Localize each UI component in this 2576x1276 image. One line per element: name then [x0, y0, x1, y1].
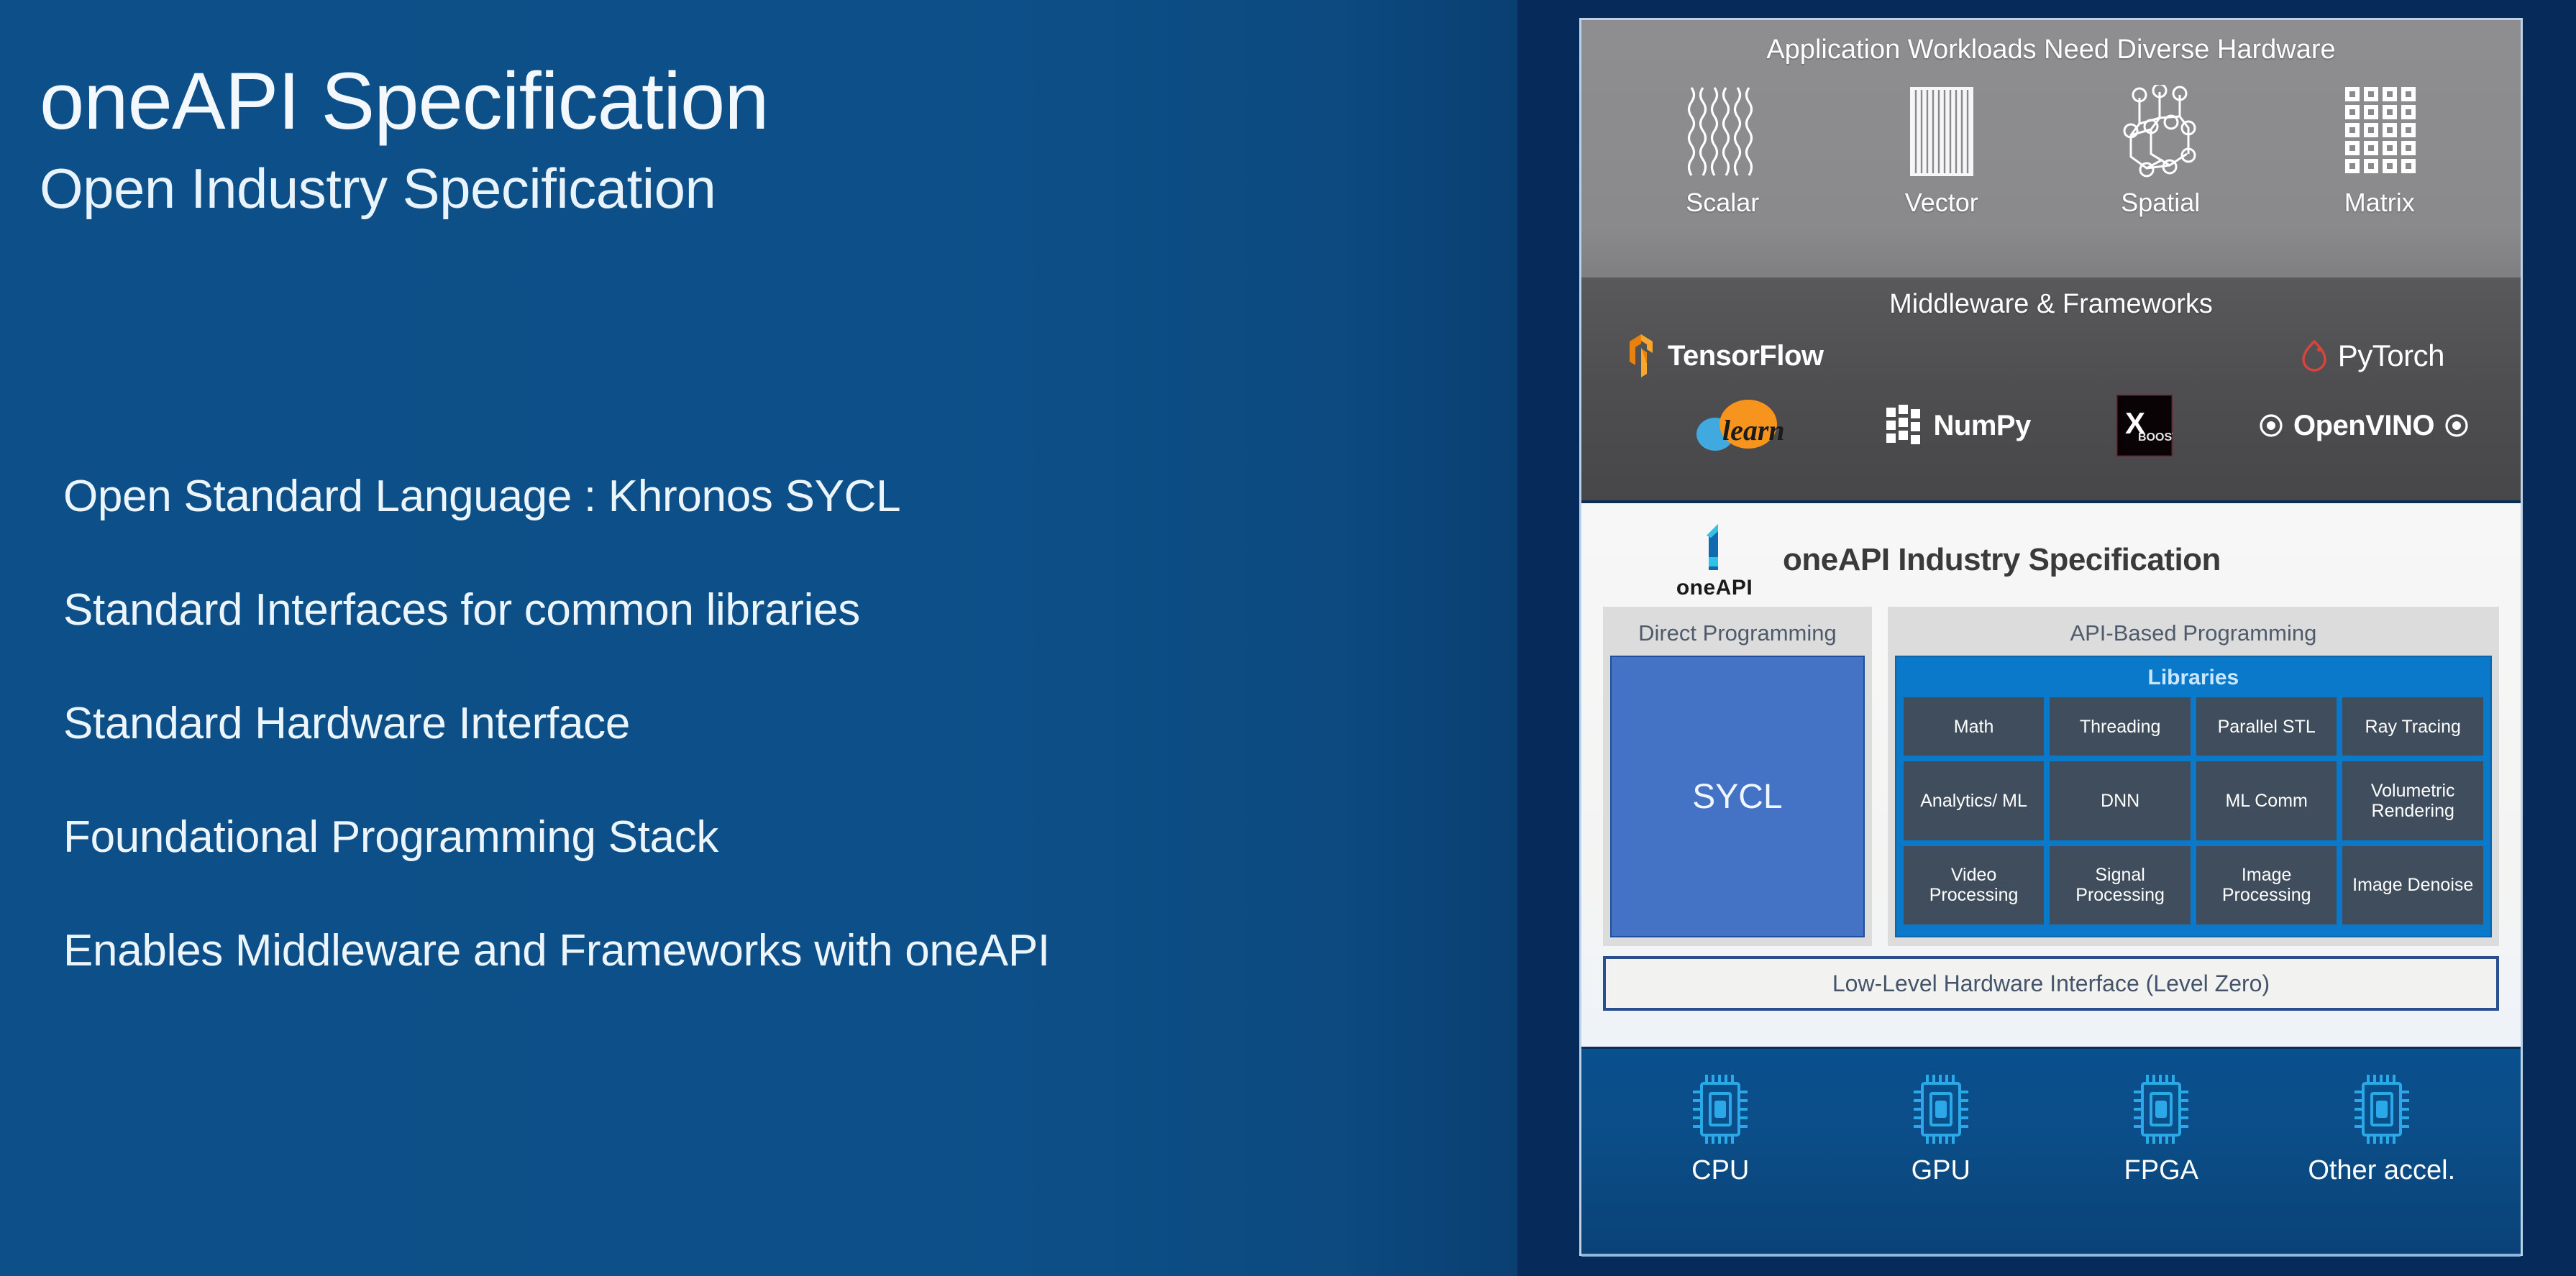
api-programming-column: API-Based Programming Libraries Math Thr… — [1888, 607, 2499, 946]
workloads-title: Application Workloads Need Diverse Hardw… — [1581, 35, 2521, 65]
hardware-label: Other accel. — [2308, 1155, 2455, 1186]
oneapi-logo: oneAPI — [1668, 520, 1761, 600]
chip-icon — [2127, 1069, 2196, 1149]
matrix-grid-icon — [2342, 84, 2417, 179]
scikit-learn-logo-icon: learn — [1689, 395, 1797, 456]
tensorflow-logo-icon — [1625, 333, 1658, 379]
xgboost-logo: X BOOST — [2116, 395, 2173, 456]
api-programming-header: API-Based Programming — [1895, 614, 2492, 656]
list-item: Open Standard Language : Khronos SYCL — [63, 474, 1466, 519]
spec-header: oneAPI oneAPI Industry Specification — [1603, 513, 2499, 607]
xgboost-logo-icon: X BOOST — [2116, 395, 2173, 456]
chip-icon — [1906, 1069, 1976, 1149]
workload-item-vector: Vector — [1863, 84, 2021, 218]
workloads-row: Scalar — [1581, 84, 2521, 218]
library-cell[interactable]: Analytics/ ML — [1904, 761, 2045, 840]
vector-bars-icon — [1906, 84, 1978, 179]
openvino-label: OpenVINO — [2293, 410, 2434, 442]
hardware-section: CPU — [1581, 1047, 2521, 1257]
pytorch-label: PyTorch — [2338, 339, 2444, 373]
list-item: Enables Middleware and Frameworks with o… — [63, 929, 1466, 973]
library-cell[interactable]: Video Processing — [1904, 846, 2045, 924]
hardware-item-other-accel: Other accel. — [2299, 1069, 2465, 1186]
slide-root: oneAPI Specification Open Industry Speci… — [0, 0, 2576, 1276]
tensorflow-label: TensorFlow — [1668, 340, 1823, 372]
workload-item-scalar: Scalar — [1643, 84, 1801, 218]
oneapi-digit-icon — [1689, 520, 1740, 576]
workloads-section: Application Workloads Need Diverse Hardw… — [1581, 20, 2521, 277]
hardware-row: CPU — [1581, 1069, 2521, 1186]
workload-item-spatial: Spatial — [2081, 84, 2239, 218]
numpy-logo-icon — [1883, 405, 1924, 446]
library-cell[interactable]: DNN — [2050, 761, 2191, 840]
library-cell[interactable]: Math — [1904, 697, 2045, 756]
workload-label: Vector — [1905, 188, 1978, 218]
libraries-title: Libraries — [1904, 663, 2483, 697]
page-subtitle: Open Industry Specification — [40, 160, 1262, 216]
pytorch-logo: PyTorch — [2301, 339, 2444, 373]
hardware-item-gpu: GPU — [1858, 1069, 2024, 1186]
title-block: oneAPI Specification Open Industry Speci… — [40, 61, 1262, 216]
numpy-label: NumPy — [1934, 410, 2031, 442]
openvino-logo: OpenVINO — [2259, 410, 2469, 442]
libraries-grid: Math Threading Parallel STL Ray Tracing … — [1904, 697, 2483, 924]
library-cell[interactable]: Ray Tracing — [2342, 697, 2483, 756]
direct-programming-header: Direct Programming — [1610, 614, 1865, 656]
workload-label: Scalar — [1686, 188, 1759, 218]
chip-icon — [2347, 1069, 2416, 1149]
middleware-row-1: TensorFlow PyTorch — [1581, 333, 2521, 379]
hardware-label: FPGA — [2124, 1155, 2198, 1186]
left-content-panel: oneAPI Specification Open Industry Speci… — [0, 0, 1517, 1276]
tensorflow-logo: TensorFlow — [1625, 333, 1823, 379]
hardware-label: CPU — [1691, 1155, 1749, 1186]
library-cell[interactable]: ML Comm — [2196, 761, 2337, 840]
workload-label: Matrix — [2344, 188, 2415, 218]
library-cell[interactable]: Signal Processing — [2050, 846, 2191, 924]
library-cell[interactable]: Image Processing — [2196, 846, 2337, 924]
workload-label: Spatial — [2121, 188, 2200, 218]
direct-programming-column: Direct Programming SYCL — [1603, 607, 1872, 946]
middleware-title: Middleware & Frameworks — [1581, 289, 2521, 320]
scalar-waves-icon — [1683, 84, 1762, 179]
hardware-label: GPU — [1912, 1155, 1970, 1186]
openvino-trailing-icon — [2444, 413, 2469, 438]
sycl-box[interactable]: SYCL — [1610, 656, 1865, 937]
hardware-item-fpga: FPGA — [2078, 1069, 2244, 1186]
spatial-graph-icon — [2118, 84, 2203, 179]
openvino-logo-icon — [2259, 413, 2283, 438]
middleware-section: Middleware & Frameworks TensorFlow — [1581, 277, 2521, 500]
pytorch-logo-icon — [2301, 339, 2328, 373]
middleware-row-2: learn — [1581, 395, 2521, 456]
spec-columns: Direct Programming SYCL API-Based Progra… — [1603, 607, 2499, 946]
svg-text:BOOST: BOOST — [2138, 431, 2173, 444]
workload-item-matrix: Matrix — [2301, 84, 2459, 218]
library-cell[interactable]: Parallel STL — [2196, 697, 2337, 756]
oneapi-spec-section: oneAPI oneAPI Industry Specification Dir… — [1581, 500, 2521, 1047]
library-cell[interactable]: Threading — [2050, 697, 2191, 756]
numpy-logo: NumPy — [1883, 405, 2031, 446]
chip-icon — [1686, 1069, 1755, 1149]
library-cell[interactable]: Image Denoise — [2342, 846, 2483, 924]
libraries-box: Libraries Math Threading Parallel STL Ra… — [1895, 656, 2492, 937]
oneapi-stack-diagram: Application Workloads Need Diverse Hardw… — [1579, 18, 2523, 1256]
scikit-learn-logo: learn — [1689, 395, 1797, 456]
library-cell[interactable]: Volumetric Rendering — [2342, 761, 2483, 840]
list-item: Standard Interfaces for common libraries — [63, 588, 1466, 633]
list-item: Foundational Programming Stack — [63, 815, 1466, 860]
oneapi-logo-label: oneAPI — [1676, 576, 1753, 600]
list-item: Standard Hardware Interface — [63, 702, 1466, 746]
page-title: oneAPI Specification — [40, 61, 1262, 142]
bullet-list: Open Standard Language : Khronos SYCL St… — [63, 474, 1466, 973]
svg-text:learn: learn — [1722, 414, 1785, 446]
hardware-item-cpu: CPU — [1638, 1069, 1803, 1186]
low-level-hardware-interface-bar[interactable]: Low-Level Hardware Interface (Level Zero… — [1603, 956, 2499, 1011]
spec-title: oneAPI Industry Specification — [1783, 542, 2221, 578]
